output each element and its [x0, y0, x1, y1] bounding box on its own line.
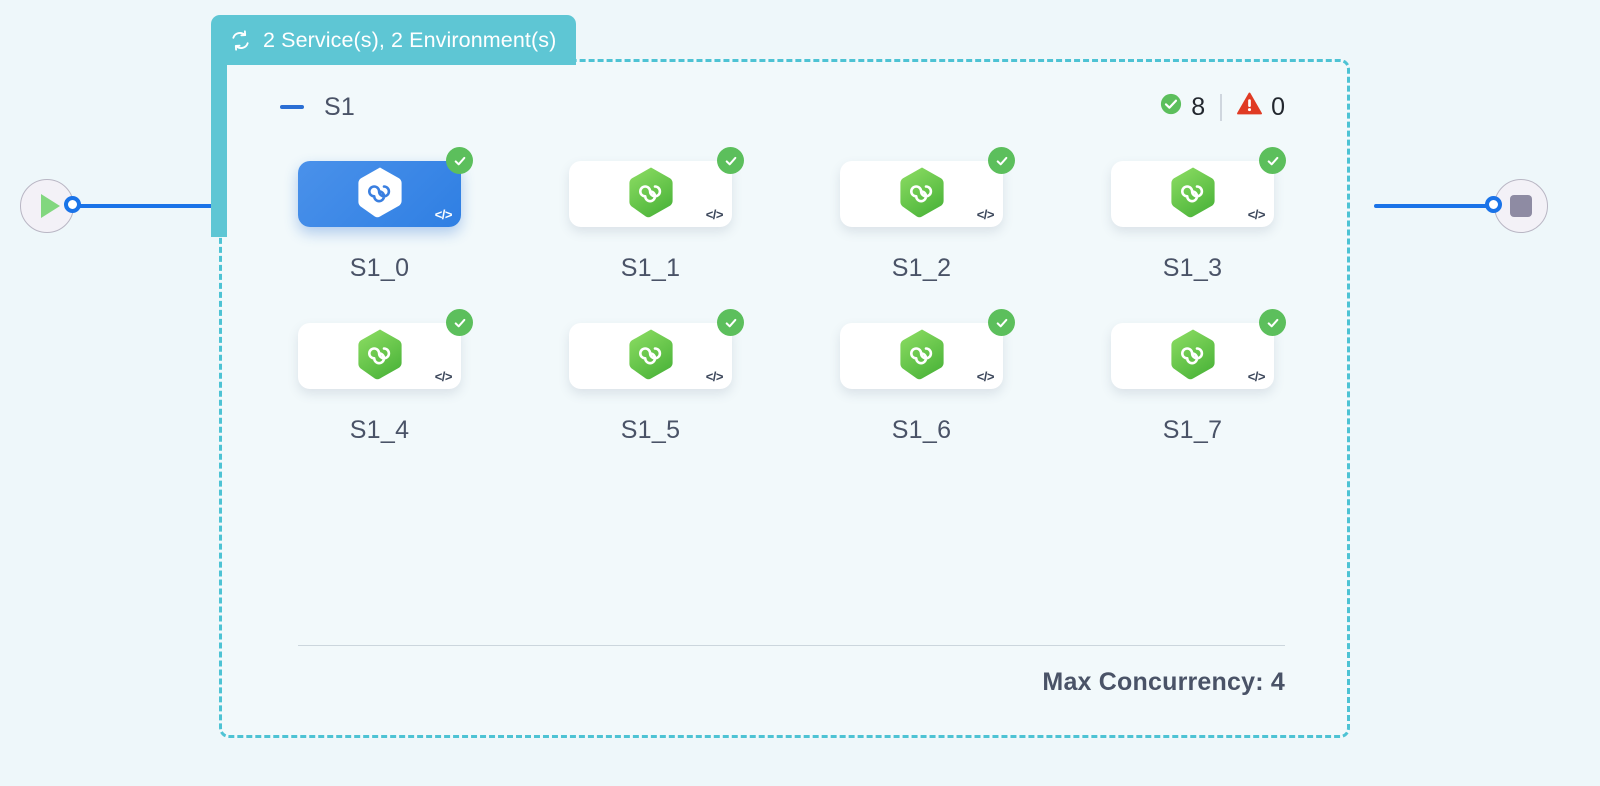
hexagon-infinity-icon — [898, 166, 946, 218]
hexagon-infinity-icon — [1169, 328, 1217, 385]
check-circle-icon — [1259, 147, 1286, 174]
hexagon-infinity-icon — [356, 328, 404, 380]
group-left-rail — [211, 62, 227, 237]
hexagon-infinity-icon — [898, 166, 946, 223]
service-node-cell: </> S1_0 — [298, 161, 461, 283]
service-node-cell: </> S1_6 — [840, 323, 1003, 445]
group-footer: Max Concurrency: 4 — [298, 645, 1285, 698]
status-divider — [1220, 94, 1222, 121]
end-node[interactable] — [1494, 179, 1548, 233]
error-count: 0 — [1271, 93, 1285, 122]
hexagon-infinity-icon — [1169, 166, 1217, 223]
success-count: 8 — [1191, 93, 1205, 122]
service-title-group: S1 — [280, 93, 355, 122]
service-node-card[interactable]: </> — [569, 161, 732, 227]
service-node-card[interactable]: </> — [569, 323, 732, 389]
check-circle-icon — [988, 147, 1015, 174]
code-icon[interactable]: </> — [1248, 207, 1265, 222]
hexagon-infinity-icon — [356, 166, 404, 223]
code-icon[interactable]: </> — [435, 207, 452, 222]
service-node-cell: </> S1_2 — [840, 161, 1003, 283]
service-node-card[interactable]: </> — [1111, 323, 1274, 389]
check-circle-icon — [717, 147, 744, 174]
check-circle-icon — [446, 147, 473, 174]
code-icon[interactable]: </> — [977, 369, 994, 384]
check-circle-icon — [988, 309, 1015, 336]
code-icon[interactable]: </> — [706, 369, 723, 384]
service-node-label: S1_2 — [840, 254, 1003, 283]
workflow-canvas: 2 Service(s), 2 Environment(s) S1 — [0, 0, 1600, 786]
service-node-card[interactable]: </> — [298, 323, 461, 389]
service-node-label: S1_0 — [298, 254, 461, 283]
end-node-input-port[interactable] — [1485, 196, 1502, 213]
service-node-grid: </> S1_0 </> S1_1 — [298, 161, 1287, 445]
check-circle-icon — [1160, 93, 1182, 122]
hexagon-infinity-icon — [627, 166, 675, 218]
service-node-cell: </> S1_1 — [569, 161, 732, 283]
service-node-cell: </> S1_4 — [298, 323, 461, 445]
play-icon — [41, 194, 60, 218]
hexagon-infinity-icon — [1169, 328, 1217, 380]
hexagon-infinity-icon — [627, 328, 675, 385]
check-circle-icon — [717, 309, 744, 336]
warning-triangle-icon — [1237, 92, 1262, 122]
service-node-label: S1_5 — [569, 416, 732, 445]
check-circle-icon — [1259, 309, 1286, 336]
hexagon-infinity-icon — [356, 166, 404, 218]
hexagon-infinity-icon — [356, 328, 404, 385]
status-summary: 8 0 — [1160, 92, 1287, 122]
hexagon-infinity-icon — [898, 328, 946, 380]
service-node-card[interactable]: </> — [840, 323, 1003, 389]
service-title: S1 — [324, 93, 355, 122]
edge-start-to-group[interactable] — [76, 204, 226, 208]
code-icon[interactable]: </> — [977, 207, 994, 222]
loop-icon — [229, 29, 252, 52]
stop-icon — [1510, 195, 1532, 217]
service-node-cell: </> S1_3 — [1111, 161, 1274, 283]
success-status-chip: 8 — [1160, 93, 1205, 122]
group-header-badge[interactable]: 2 Service(s), 2 Environment(s) — [211, 15, 576, 65]
error-status-chip: 0 — [1237, 92, 1285, 122]
check-circle-icon — [446, 309, 473, 336]
minus-icon[interactable] — [280, 105, 304, 109]
hexagon-infinity-icon — [1169, 166, 1217, 218]
service-node-card[interactable]: </> — [1111, 161, 1274, 227]
hexagon-infinity-icon — [627, 166, 675, 223]
start-node-output-port[interactable] — [64, 196, 81, 213]
hexagon-infinity-icon — [898, 328, 946, 385]
footer-divider — [298, 645, 1285, 647]
code-icon[interactable]: </> — [1248, 369, 1265, 384]
service-header: S1 8 — [280, 90, 1287, 124]
service-node-label: S1_6 — [840, 416, 1003, 445]
service-node-label: S1_1 — [569, 254, 732, 283]
service-node-label: S1_7 — [1111, 416, 1274, 445]
service-node-card[interactable]: </> — [298, 161, 461, 227]
max-concurrency-label: Max Concurrency: 4 — [298, 668, 1285, 697]
code-icon[interactable]: </> — [435, 369, 452, 384]
code-icon[interactable]: </> — [706, 207, 723, 222]
service-node-label: S1_3 — [1111, 254, 1274, 283]
service-node-cell: </> S1_5 — [569, 323, 732, 445]
service-node-label: S1_4 — [298, 416, 461, 445]
service-section: S1 8 — [222, 62, 1347, 735]
hexagon-infinity-icon — [627, 328, 675, 380]
service-node-cell: </> S1_7 — [1111, 323, 1274, 445]
service-node-card[interactable]: </> — [840, 161, 1003, 227]
group-header-label: 2 Service(s), 2 Environment(s) — [263, 28, 556, 53]
group-container[interactable]: S1 8 — [219, 59, 1350, 738]
